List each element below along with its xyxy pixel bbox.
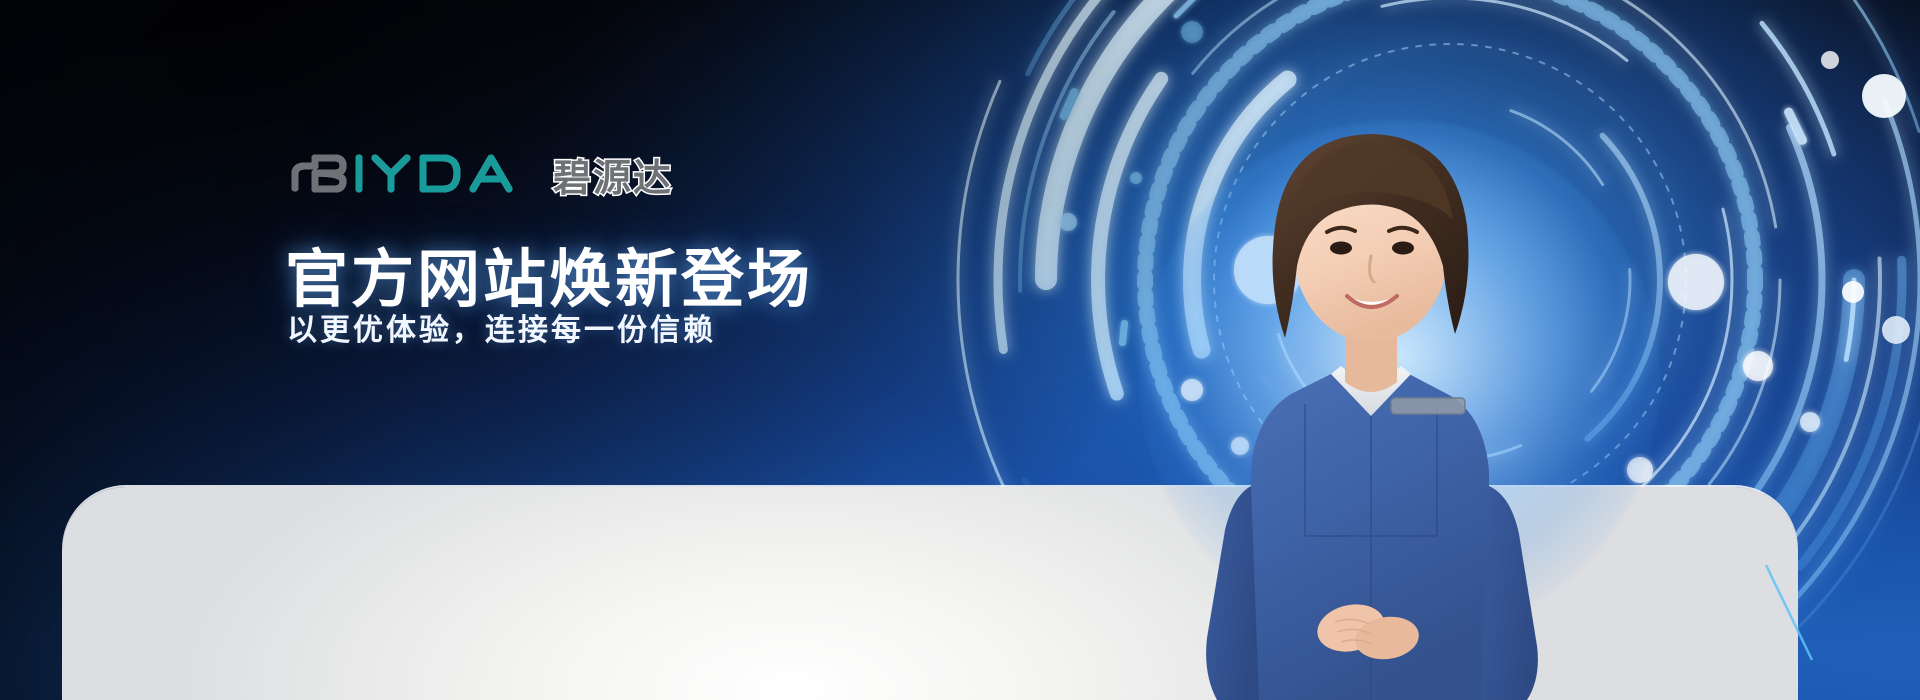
hero-content: 碧源达 官方网站焕新登场 以更优体验，连接每一份信赖 — [285, 0, 1045, 700]
page-subtitle: 以更优体验，连接每一份信赖 — [287, 305, 716, 349]
brand-logo-latin-icon — [285, 148, 537, 200]
brand-logo[interactable]: 碧源达 — [285, 148, 673, 200]
person-photo — [1155, 98, 1585, 700]
brand-logo-cn-text: 碧源达 — [553, 147, 673, 202]
hero-banner: 碧源达 官方网站焕新登场 以更优体验，连接每一份信赖 — [0, 0, 1920, 700]
